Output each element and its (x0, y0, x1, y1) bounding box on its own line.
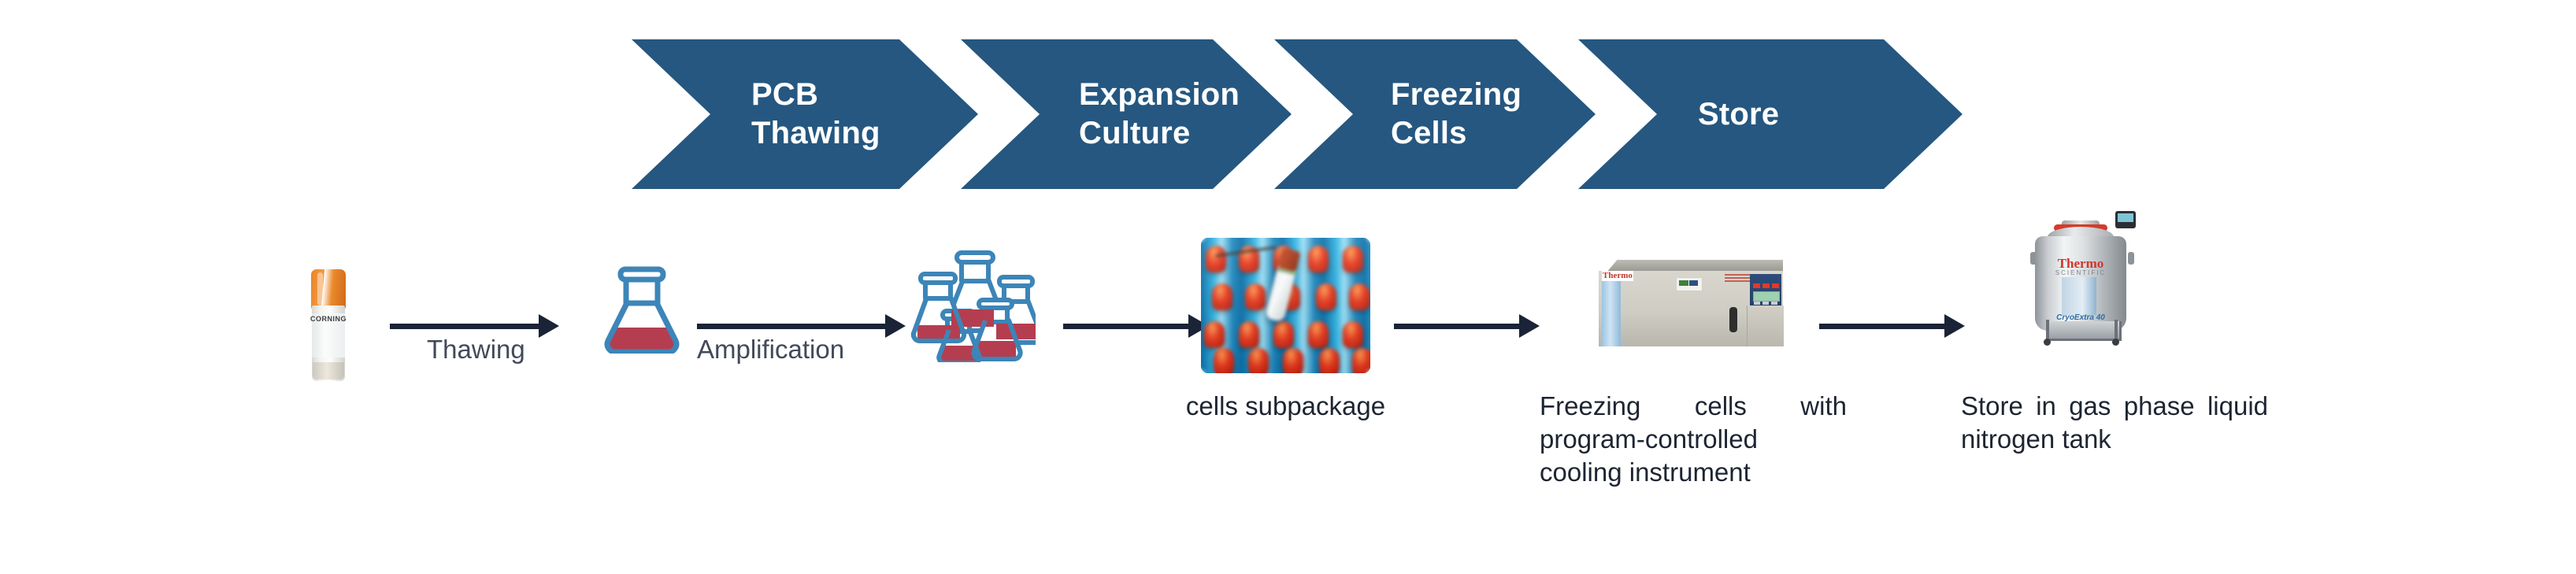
arrow-shaft (390, 324, 539, 329)
tank-window (2062, 277, 2096, 315)
cells-subpackage-image (1201, 238, 1370, 373)
vial-brand-text: CORNING (309, 315, 347, 323)
tank-display-screen (2118, 213, 2133, 222)
tank-leg (2115, 320, 2118, 340)
vial-contents (313, 362, 344, 380)
freezer-side-strip (1602, 277, 1621, 346)
caption-store-nitrogen-tank: Store in gas phase liquid nitrogen tank (1961, 390, 2268, 456)
freezer-handle-icon[interactable] (1729, 307, 1737, 332)
arrow-shaft (1394, 324, 1520, 329)
arrow-head-icon (539, 314, 559, 338)
panel-button[interactable] (1762, 302, 1769, 305)
caption-freezing-instrument: Freezing cells with program-controlled c… (1540, 390, 1847, 490)
led-indicator (1772, 283, 1779, 288)
panel-button[interactable] (1771, 302, 1777, 305)
chevron-label: PCB Thawing (751, 76, 880, 153)
sticker-mark-green (1679, 280, 1688, 286)
panel-button[interactable] (1754, 302, 1760, 305)
chevron-store[interactable]: Store (1578, 39, 1963, 189)
caption-cells-subpackage: cells subpackage (1150, 390, 1421, 423)
flask-cluster-icon (910, 248, 1036, 366)
lcd-display (1753, 291, 1780, 302)
chevron-label: Store (1698, 95, 1779, 134)
tank-leg (2046, 320, 2049, 340)
nitrogen-tank-image: Thermo SCIENTIFIC CryoExtra 40 (2024, 220, 2142, 354)
step-label-thawing: Thawing (427, 335, 525, 365)
flask-single-icon (599, 265, 685, 357)
photo-blur-overlay (1201, 238, 1370, 373)
arrow-shaft (1063, 324, 1189, 329)
controlled-rate-freezer-image: Thermo (1599, 260, 1783, 348)
led-indicator (1753, 283, 1760, 288)
freezer-control-panel[interactable] (1750, 274, 1781, 307)
tank-caster-wheel (2112, 339, 2119, 346)
tank-display-panel[interactable] (2115, 211, 2136, 228)
led-indicator (1762, 283, 1770, 288)
step-label-amplification: Amplification (697, 335, 844, 365)
arrow-head-icon (1944, 314, 1965, 338)
tank-brand-text: Thermo (2035, 257, 2126, 270)
arrow-head-icon (885, 314, 906, 338)
arrow-to-storage (1819, 314, 1965, 338)
freezer-brand-label: Thermo (1602, 271, 1633, 281)
chevron-freezing-cells[interactable]: Freezing Cells (1274, 39, 1596, 189)
chevron-expansion-culture[interactable]: Expansion Culture (961, 39, 1292, 189)
arrow-shaft (697, 324, 886, 329)
chevron-pcb-thawing[interactable]: PCB Thawing (632, 39, 978, 189)
chevron-label: Freezing Cells (1391, 76, 1522, 153)
tank-handle-right (2128, 252, 2134, 265)
workflow-flow-row: CORNING Thawing Amplification (0, 220, 2576, 567)
cryovial-image: CORNING (309, 269, 347, 381)
tank-subbrand-text: SCIENTIFIC (2035, 269, 2126, 276)
arrow-to-freezer (1394, 314, 1540, 338)
freezer-sticker (1676, 277, 1703, 291)
vial-cap-icon (311, 269, 346, 309)
tank-step-platform (2046, 321, 2122, 341)
chevron-label: Expansion Culture (1079, 76, 1240, 153)
vial-cap-highlight (317, 272, 323, 306)
arrow-head-icon (1519, 314, 1540, 338)
sticker-mark-blue (1689, 280, 1698, 286)
tank-caster-wheel (2044, 339, 2051, 346)
process-chevron-banner: PCB Thawing Expansion Culture Freezing C… (632, 39, 1963, 189)
arrow-shaft (1819, 324, 1945, 329)
arrow-to-subpackage (1063, 314, 1209, 338)
freezer-door[interactable] (1747, 306, 1784, 346)
